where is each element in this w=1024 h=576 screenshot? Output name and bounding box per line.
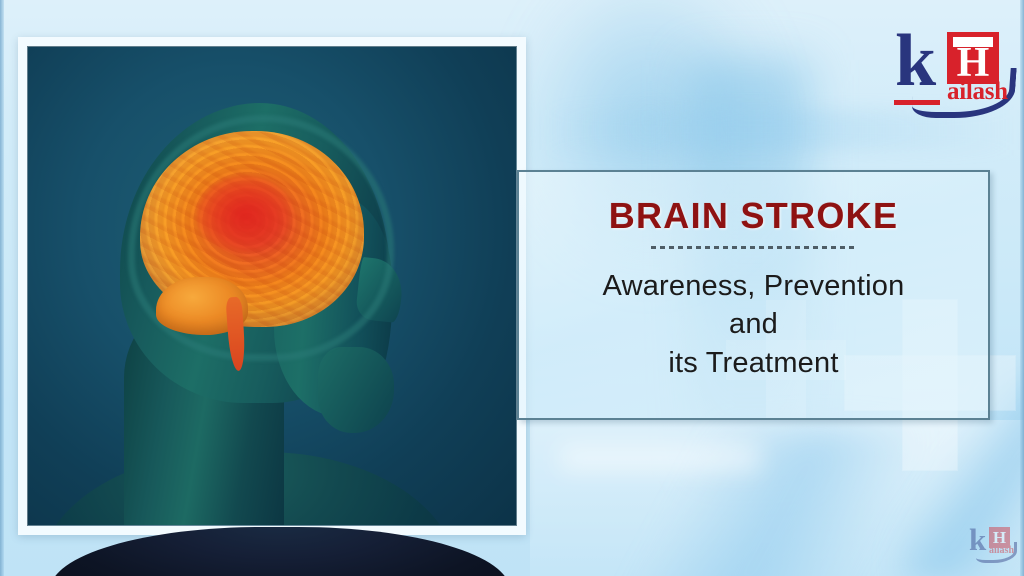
hero-image-frame [18,37,526,535]
right-edge-strip [1020,0,1024,576]
page-subtitle: Awareness, Prevention and its Treatment [603,267,905,382]
stroke-highlight-region [196,175,292,253]
title-card: BRAIN STROKE Awareness, Prevention and i… [517,170,990,420]
watermark-k-letter: k [969,525,986,554]
kailash-hospital-logo: k H ailash [893,22,1011,114]
chin-shape [318,347,394,433]
brain-head-illustration [27,46,517,526]
corner-logo-watermark: k H ailash [968,524,1014,564]
logo-k-letter: k [895,26,936,96]
watermark-wordmark: ailash [989,545,1014,556]
logo-wordmark: ailash [947,78,1008,106]
logo-h-box-icon: H [947,32,999,84]
logo-red-bar [894,100,940,105]
left-edge-strip [0,0,4,576]
slide-canvas: BRAIN STROKE Awareness, Prevention and i… [0,0,1024,576]
watermark-h-letter: H [993,529,1006,546]
page-title: BRAIN STROKE [609,198,899,234]
background-glow-patch [560,445,760,471]
title-divider [651,246,857,249]
